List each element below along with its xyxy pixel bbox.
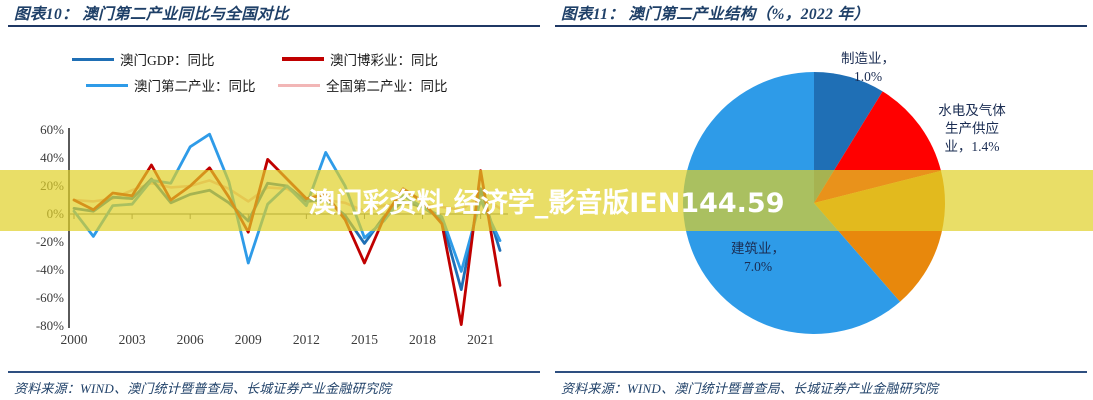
x-tick-label: 2012 [280,332,332,348]
legend-label-national-secondary: 全国第二产业：同比 [326,75,448,95]
source-divider-left [8,371,540,373]
line-chart-plot [68,130,508,326]
legend-swatch-macau-secondary [86,84,128,87]
pie-label-manufacturing: 制造业， 1.0% [820,50,916,86]
y-tick-label: 60% [10,122,64,138]
legend-item-macau-gaming[interactable]: 澳门博彩业：同比 [282,48,438,70]
page-title-figure-11: 图表11： 澳门第二产业结构（%，2022 年） [561,2,1085,24]
legend-item-macau-secondary[interactable]: 澳门第二产业：同比 [86,74,256,96]
x-tick-label: 2003 [106,332,158,348]
y-tick-label: -60% [10,290,64,306]
line-chart-svg [68,130,508,326]
legend-swatch-national-secondary [278,84,320,87]
legend-swatch-macau-gdp [72,58,114,61]
source-divider-right [555,371,1087,373]
line-series-2 [74,134,500,271]
y-tick-label: 40% [10,150,64,166]
y-tick-label: -20% [10,234,64,250]
x-tick-label: 2009 [222,332,274,348]
x-tick-label: 2000 [48,332,100,348]
figure-page: 图表10： 澳门第二产业同比与全国对比 澳门GDP：同比 澳门博彩业：同比 澳门… [0,0,1093,400]
x-tick-label: 2018 [397,332,449,348]
x-tick-label: 2015 [338,332,390,348]
y-tick-label: 0% [10,206,64,222]
legend-label-macau-gdp: 澳门GDP：同比 [120,49,215,69]
legend-label-macau-gaming: 澳门博彩业：同比 [330,49,438,69]
y-axis-labels: 60%40%20%0%-20%-40%-60%-80% [10,122,64,334]
pie-label-utilities: 水电及气体 生产供应 业，1.4% [920,102,1024,155]
y-tick-label: 20% [10,178,64,194]
title-divider-right [555,25,1087,27]
legend-swatch-macau-gaming [282,57,324,61]
y-tick-label: -40% [10,262,64,278]
legend-row-2: 澳门第二产业：同比 全国第二产业：同比 [72,74,492,96]
x-axis-labels: 20002003200620092012201520182021 [40,332,520,354]
source-note-left: 资料来源：WIND、澳门统计暨普查局、长城证券产业金融研究院 [14,378,540,397]
legend-item-macau-gdp[interactable]: 澳门GDP：同比 [72,48,215,70]
legend-row-1: 澳门GDP：同比 澳门博彩业：同比 [72,48,492,70]
page-title-figure-10: 图表10： 澳门第二产业同比与全国对比 [14,2,538,24]
chart-panel-left: 图表10： 澳门第二产业同比与全国对比 澳门GDP：同比 澳门博彩业：同比 澳门… [0,0,546,400]
x-tick-label: 2021 [455,332,507,348]
x-tick-label: 2006 [164,332,216,348]
legend-left: 澳门GDP：同比 澳门博彩业：同比 澳门第二产业：同比 全国第二产业：同比 [72,48,492,100]
legend-item-national-secondary[interactable]: 全国第二产业：同比 [278,74,448,96]
pie-chart-svg [683,72,945,334]
source-note-right: 资料来源：WIND、澳门统计暨普查局、长城证券产业金融研究院 [561,378,1087,397]
line-series-1 [74,159,500,324]
legend-label-macau-secondary: 澳门第二产业：同比 [134,75,256,95]
pie-label-construction: 建筑业， 7.0% [710,240,806,276]
pie-chart [683,72,945,334]
title-divider-left [8,25,540,27]
